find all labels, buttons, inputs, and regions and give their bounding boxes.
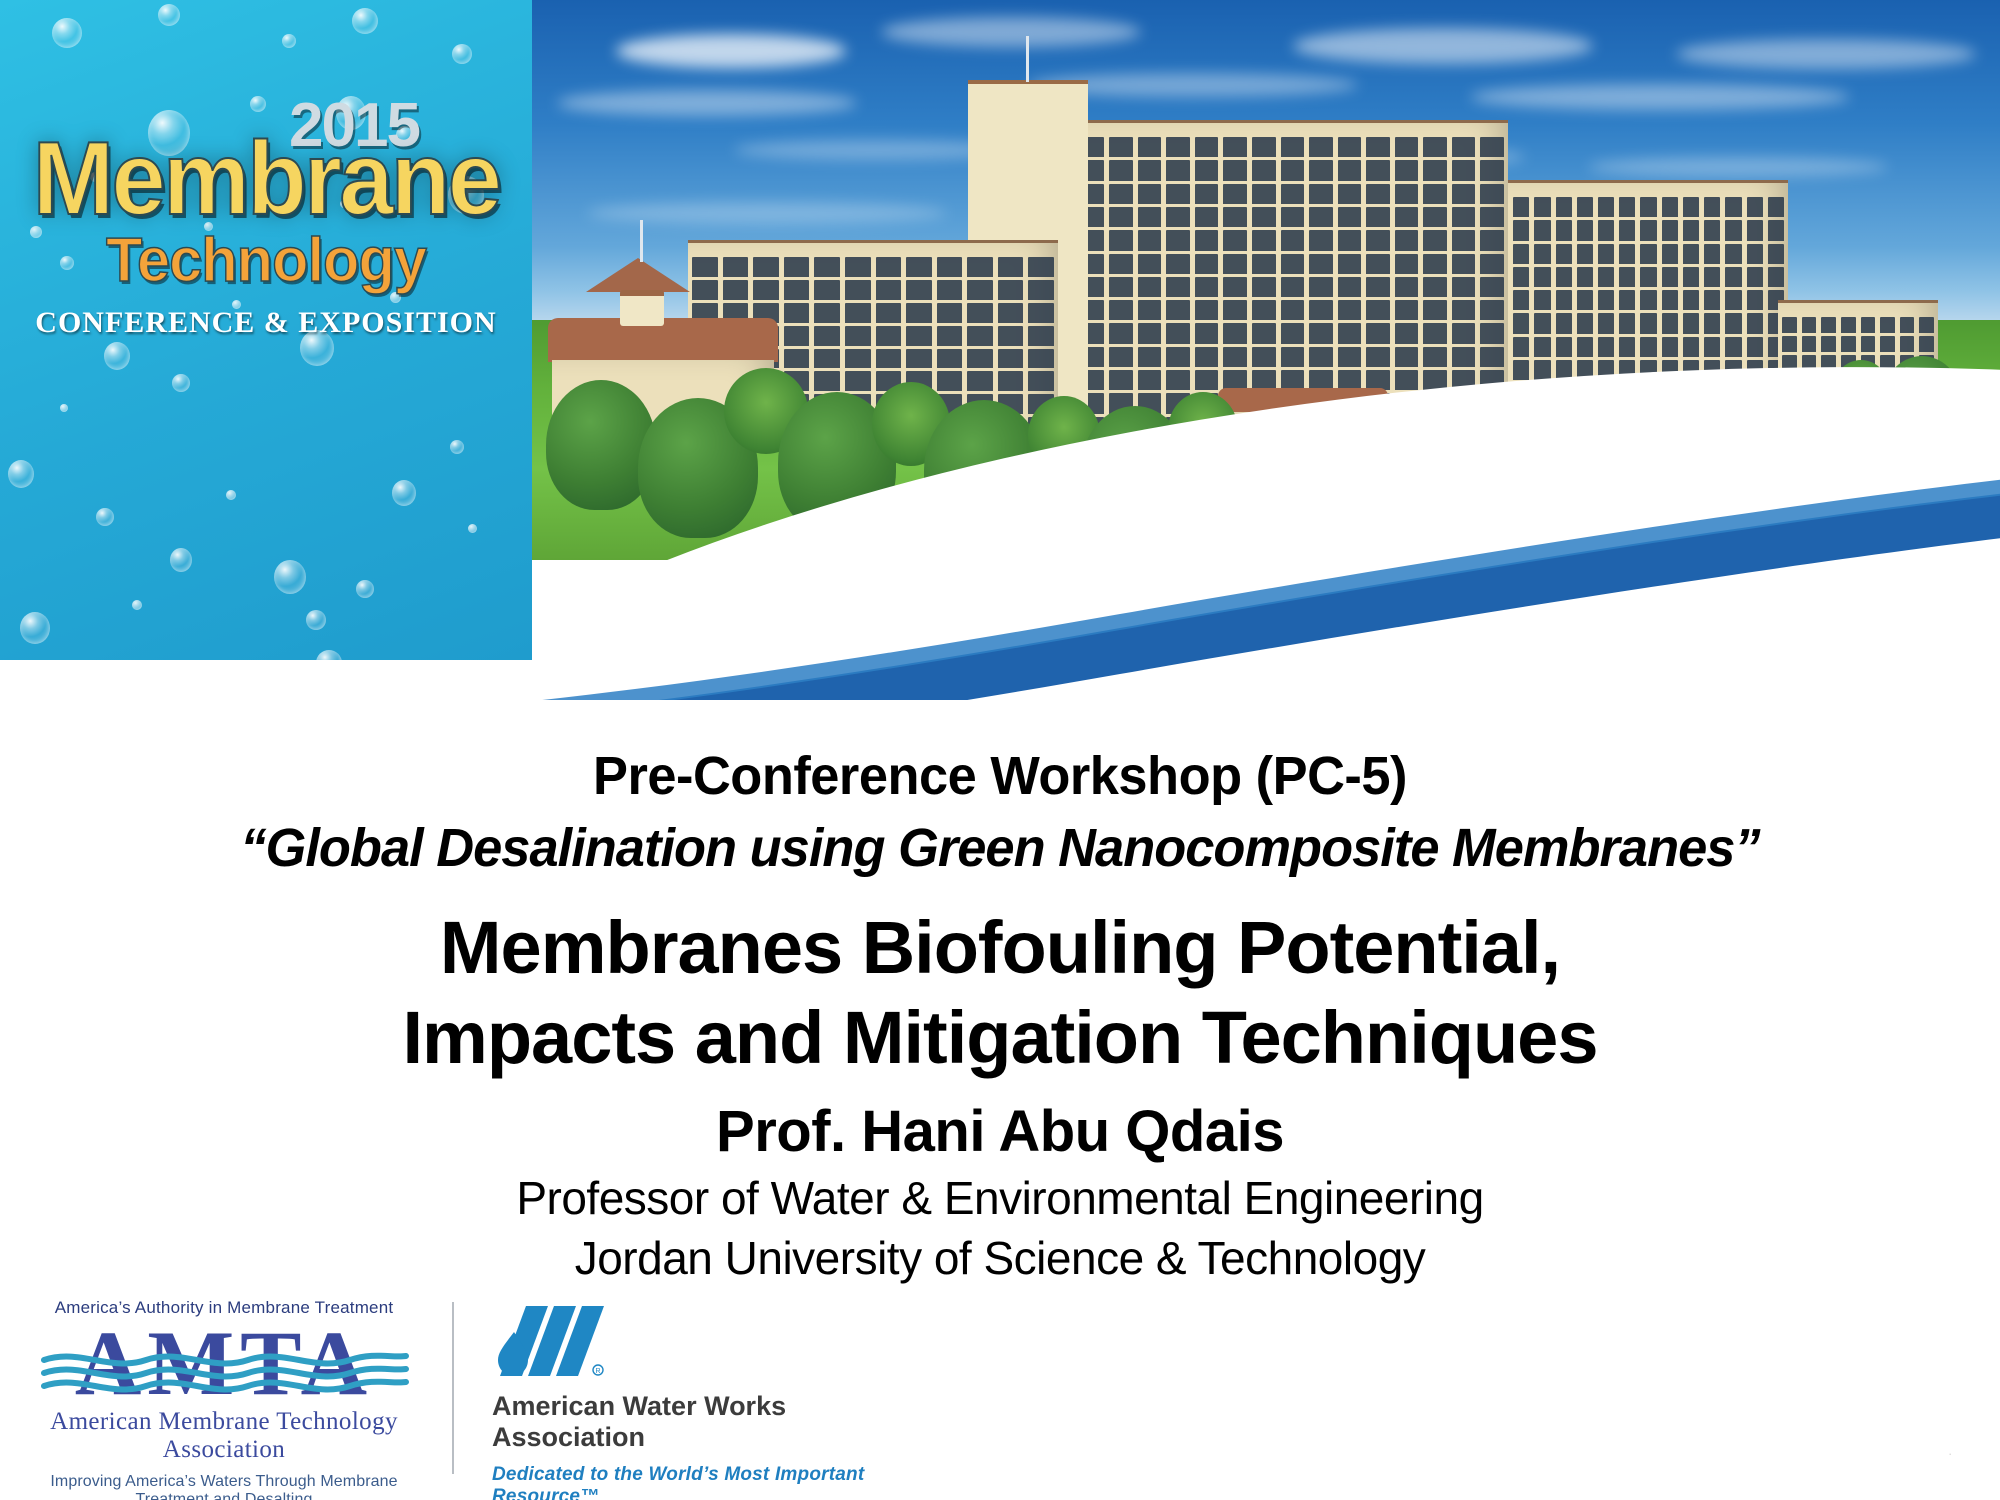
awwa-name-line-1: American Water Works <box>492 1391 912 1422</box>
amta-wave-icon <box>40 1348 410 1394</box>
title-text-block: Pre-Conference Workshop (PC-5) “Global D… <box>0 745 2000 1285</box>
awwa-tagline: Dedicated to the World’s Most Important … <box>492 1464 912 1500</box>
footer-divider <box>452 1302 454 1474</box>
awwa-name-line-2: Association <box>492 1422 912 1453</box>
resort-photo <box>528 0 2000 560</box>
awwa-logo: R American Water Works Association Dedic… <box>492 1304 912 1500</box>
event-logo-panel: 2015 Membrane Technology CONFERENCE & EX… <box>0 0 532 660</box>
slide-banner: 2015 Membrane Technology CONFERENCE & EX… <box>0 0 2000 700</box>
logo-word-membrane: Membrane <box>16 132 516 228</box>
amta-wordmark: AMTA <box>22 1320 426 1406</box>
workshop-label: Pre-Conference Workshop (PC-5) <box>30 745 1970 807</box>
amta-full-name: American Membrane Technology Association <box>22 1408 426 1464</box>
svg-text:R: R <box>595 1368 600 1375</box>
page-mark: . <box>1948 1443 1952 1458</box>
amta-logo: America’s Authority in Membrane Treatmen… <box>22 1298 426 1500</box>
logo-word-technology: Technology <box>11 230 522 292</box>
speaker-affiliation-line-2: Jordan University of Science & Technolog… <box>0 1231 2000 1285</box>
presentation-title-line-2: Impacts and Mitigation Techniques <box>0 993 2000 1083</box>
hotel-cupola <box>620 290 664 326</box>
slide-footer: America’s Authority in Membrane Treatmen… <box>0 1290 2000 1500</box>
logo-tagline: CONFERENCE & EXPOSITION <box>0 306 532 340</box>
speaker-affiliation-line-1: Professor of Water & Environmental Engin… <box>0 1171 2000 1225</box>
amta-tagline-bottom: Improving America’s Waters Through Membr… <box>22 1473 426 1500</box>
presentation-title-line-1: Membranes Biofouling Potential, <box>0 903 2000 993</box>
awwa-droplet-icon: R <box>492 1304 618 1378</box>
workshop-theme: “Global Desalination using Green Nanocom… <box>30 817 1970 879</box>
speaker-name: Prof. Hani Abu Qdais <box>0 1098 2000 1165</box>
awwa-name: American Water Works Association <box>492 1391 912 1454</box>
conference-logo: 2015 Membrane Technology CONFERENCE & EX… <box>0 96 532 340</box>
presentation-slide: 2015 Membrane Technology CONFERENCE & EX… <box>0 0 2000 1500</box>
